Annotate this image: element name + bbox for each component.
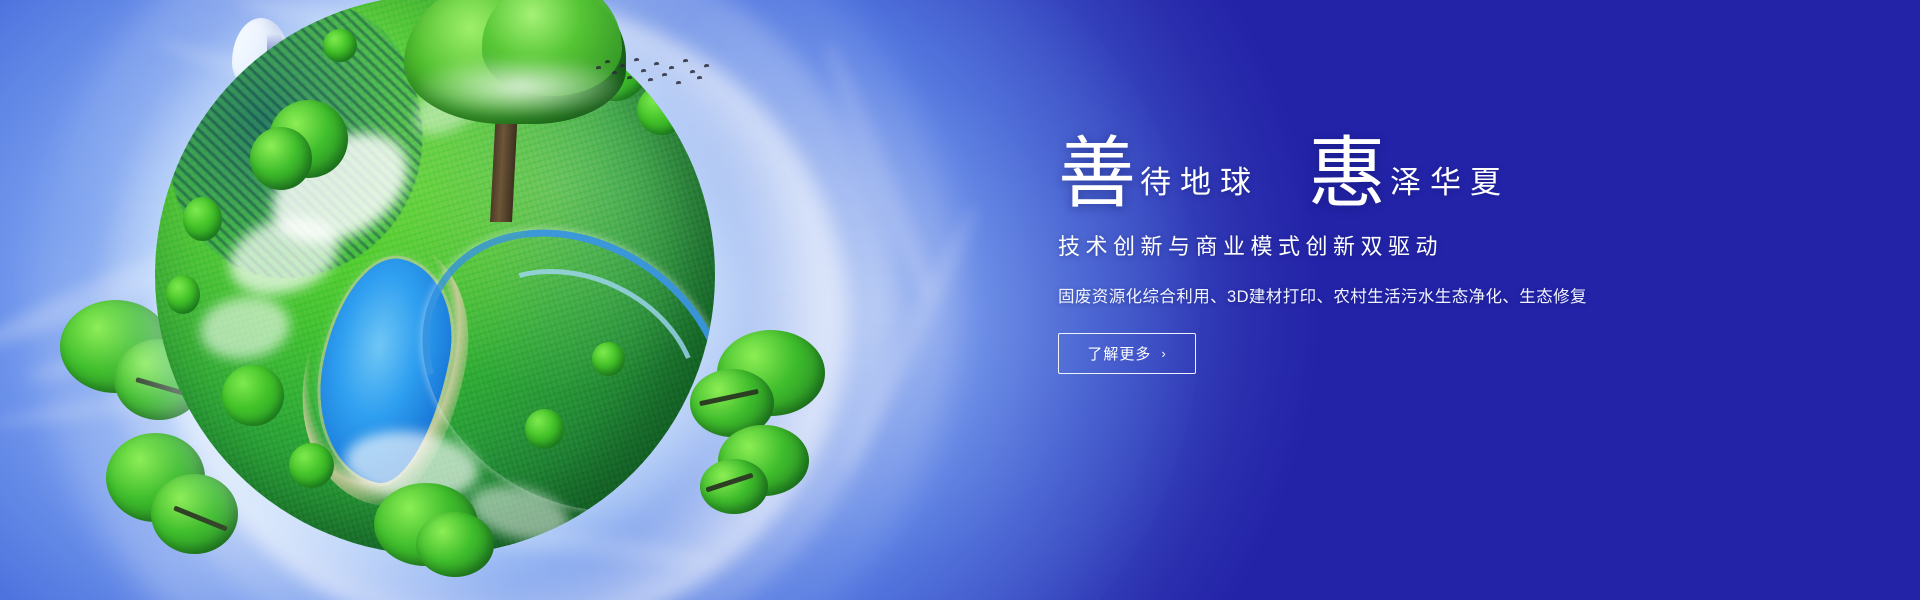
headline-chars-small: 待地球 bbox=[1136, 167, 1260, 207]
tree-cluster bbox=[525, 409, 564, 448]
large-tree-on-globe bbox=[390, 0, 640, 224]
chevron-right-icon: › bbox=[1161, 346, 1166, 361]
headline-char-large: 善 bbox=[1058, 140, 1136, 207]
tree-cluster bbox=[166, 275, 200, 314]
learn-more-label: 了解更多 bbox=[1087, 343, 1151, 364]
side-tree bbox=[250, 40, 370, 190]
tree-cluster bbox=[222, 365, 284, 427]
headline-chars-small: 泽华夏 bbox=[1386, 167, 1510, 207]
headline-group-1: 善 待地球 bbox=[1058, 140, 1260, 207]
hero-banner: 善 待地球 惠 泽华夏 技术创新与商业模式创新双驱动 固废资源化综合利用、3D建… bbox=[0, 0, 1920, 600]
learn-more-button[interactable]: 了解更多 › bbox=[1058, 333, 1196, 374]
page-title: 善 待地球 惠 泽华夏 bbox=[1058, 140, 1698, 207]
headline-group-2: 惠 泽华夏 bbox=[1308, 140, 1510, 207]
side-tree bbox=[700, 420, 830, 535]
hero-copy: 善 待地球 惠 泽华夏 技术创新与商业模式创新双驱动 固废资源化综合利用、3D建… bbox=[1058, 140, 1698, 374]
headline-char-large: 惠 bbox=[1308, 140, 1386, 207]
tree-mist bbox=[420, 58, 620, 116]
bird-flock bbox=[596, 56, 716, 90]
hero-subtitle: 技术创新与商业模式创新双驱动 bbox=[1058, 229, 1698, 261]
tree-cluster bbox=[637, 85, 687, 135]
side-tree bbox=[360, 470, 500, 600]
tree-cluster bbox=[289, 443, 334, 488]
hero-tagline: 固废资源化综合利用、3D建材打印、农村生活污水生态净化、生态修复 bbox=[1058, 283, 1698, 307]
tree-cluster bbox=[592, 342, 626, 376]
